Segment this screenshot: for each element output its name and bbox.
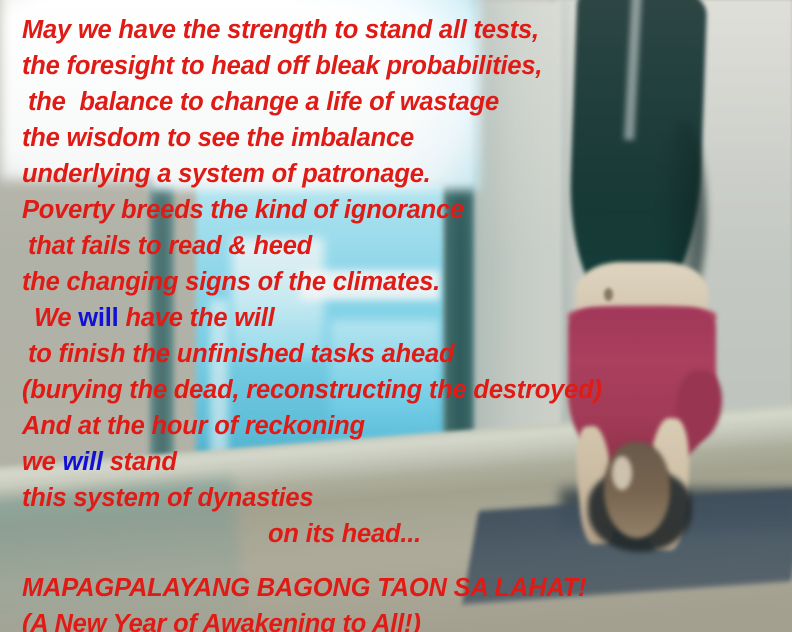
emphasis-word-will: will xyxy=(63,448,103,476)
poem-text-segment: (A New Year of Awakening to All!) xyxy=(22,610,421,632)
poem-text-segment: MAPAGPALAYANG BAGONG TAON SA LAHAT! xyxy=(22,574,586,602)
poem-line-13: we will stand xyxy=(0,444,792,480)
poem-line-14: this system of dynasties xyxy=(0,480,792,516)
poem-line-5: underlying a system of patronage. xyxy=(0,156,792,192)
poem-line-9: We will have the will xyxy=(0,300,792,336)
poem-line-12: And at the hour of reckoning xyxy=(0,408,792,444)
poem-text-segment: And at the hour of reckoning xyxy=(22,412,365,440)
poem-text-segment: We xyxy=(34,304,78,332)
poem-line-4: the wisdom to see the imbalance xyxy=(0,120,792,156)
poem-line-16: MAPAGPALAYANG BAGONG TAON SA LAHAT! xyxy=(0,570,792,606)
poem-line-17: (A New Year of Awakening to All!) xyxy=(0,606,792,632)
emphasis-word-will: will xyxy=(78,304,118,332)
poem-line-7: that fails to read & heed xyxy=(0,228,792,264)
poem-line-10: to finish the unfinished tasks ahead xyxy=(0,336,792,372)
poem-line-1: May we have the strength to stand all te… xyxy=(0,12,792,48)
poem-text-segment: on its head... xyxy=(268,520,421,548)
poem-text-segment: May we have the strength to stand all te… xyxy=(22,16,539,44)
poem-line-15: on its head... xyxy=(0,516,792,552)
poem-text-segment: this system of dynasties xyxy=(22,484,313,512)
poem-text-overlay: May we have the strength to stand all te… xyxy=(0,0,792,632)
poem-text-segment: to finish the unfinished tasks ahead xyxy=(28,340,454,368)
poem-line-6: Poverty breeds the kind of ignorance xyxy=(0,192,792,228)
poem-line-3: the balance to change a life of wastage xyxy=(0,84,792,120)
poem-text-segment: stand xyxy=(103,448,177,476)
poem-text-segment: (burying the dead, reconstructing the de… xyxy=(22,376,602,404)
poem-text-segment: the wisdom to see the imbalance xyxy=(22,124,414,152)
poem-text-segment: the changing signs of the climates. xyxy=(22,268,440,296)
poem-text-segment: have the will xyxy=(119,304,275,332)
poem-line-8: the changing signs of the climates. xyxy=(0,264,792,300)
poem-text-segment: Poverty breeds the kind of ignorance xyxy=(22,196,464,224)
poem-line-2: the foresight to head off bleak probabil… xyxy=(0,48,792,84)
poem-line-11: (burying the dead, reconstructing the de… xyxy=(0,372,792,408)
poem-text-segment: the balance to change a life of wastage xyxy=(28,88,499,116)
poem-text-segment: underlying a system of patronage. xyxy=(22,160,431,188)
poem-text-segment: the foresight to head off bleak probabil… xyxy=(22,52,542,80)
poem-text-segment: that fails to read & heed xyxy=(28,232,312,260)
greeting-poster: May we have the strength to stand all te… xyxy=(0,0,792,632)
poem-text-segment: we xyxy=(22,448,63,476)
